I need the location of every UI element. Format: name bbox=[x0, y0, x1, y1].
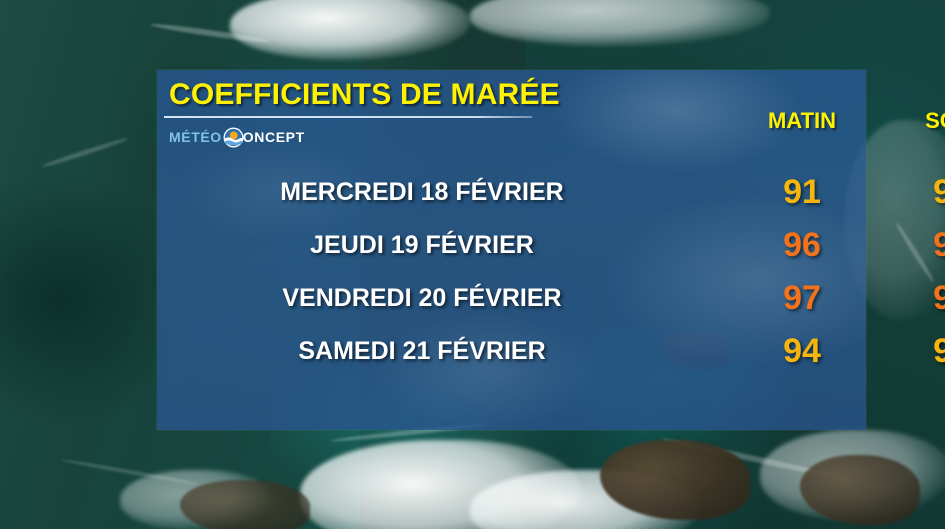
logo-text-concept: ONCEPT bbox=[243, 129, 305, 145]
tide-coefficients-graphic: COEFFICIENTS DE MARÉE MÉTÉO ONCEPT MATIN… bbox=[0, 0, 945, 529]
table-row: SAMEDI 21 FÉVRIER 94 91 bbox=[157, 331, 866, 383]
column-header-matin: MATIN bbox=[717, 108, 887, 134]
table-row: JEUDI 19 FÉVRIER 96 97 bbox=[157, 225, 866, 277]
row-day-label: SAMEDI 21 FÉVRIER bbox=[157, 331, 687, 371]
table-row: VENDREDI 20 FÉVRIER 97 96 bbox=[157, 278, 866, 330]
row-day-label: JEUDI 19 FÉVRIER bbox=[157, 225, 687, 265]
page-title: COEFFICIENTS DE MARÉE bbox=[169, 78, 560, 112]
row-day-label: MERCREDI 18 FÉVRIER bbox=[157, 172, 687, 212]
meteo-concept-logo: MÉTÉO ONCEPT bbox=[169, 126, 305, 148]
row-day-label: VENDREDI 20 FÉVRIER bbox=[157, 278, 687, 318]
logo-text-meteo: MÉTÉO bbox=[169, 129, 222, 145]
tide-info-panel: COEFFICIENTS DE MARÉE MÉTÉO ONCEPT MATIN… bbox=[157, 70, 866, 430]
rock-formation bbox=[180, 480, 310, 529]
row-value-matin: 97 bbox=[717, 278, 887, 318]
row-value-matin: 91 bbox=[717, 172, 887, 212]
table-row: MERCREDI 18 FÉVRIER 91 94 bbox=[157, 172, 866, 224]
row-value-soir: 91 bbox=[867, 331, 945, 371]
row-value-soir: 96 bbox=[867, 278, 945, 318]
row-value-soir: 94 bbox=[867, 172, 945, 212]
row-value-matin: 96 bbox=[717, 225, 887, 265]
sun-wave-icon bbox=[223, 127, 244, 148]
row-value-matin: 94 bbox=[717, 331, 887, 371]
title-divider bbox=[164, 116, 532, 118]
column-header-soir: SOIR bbox=[867, 108, 945, 134]
row-value-soir: 97 bbox=[867, 225, 945, 265]
